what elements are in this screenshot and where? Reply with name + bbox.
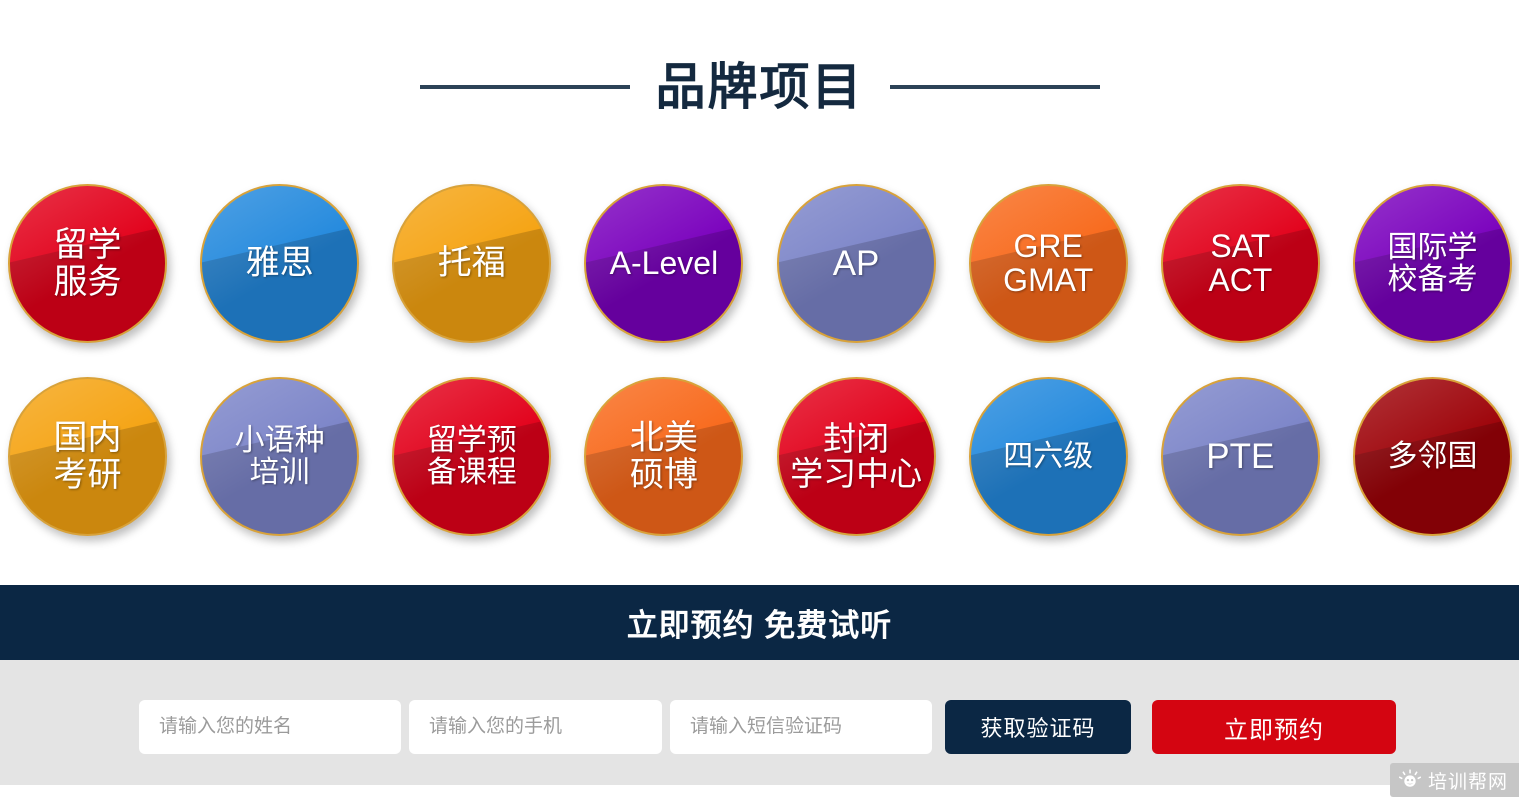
program-bubble-label: 四六级 bbox=[1003, 441, 1093, 473]
program-bubble-label: 北美 硕博 bbox=[630, 420, 698, 492]
program-bubble-international-school-prep[interactable]: 国际学 校备考 bbox=[1353, 184, 1512, 343]
program-bubble-label: 托福 bbox=[438, 245, 506, 281]
program-bubble-cet-4-6[interactable]: 四六级 bbox=[969, 377, 1128, 536]
phone-input[interactable] bbox=[409, 700, 662, 754]
program-bubble-toefl[interactable]: 托福 bbox=[392, 184, 551, 343]
submit-reservation-button[interactable]: 立即预约 bbox=[1152, 700, 1396, 754]
program-bubble-label: 小语种 培训 bbox=[235, 425, 325, 489]
program-bubble-domestic-postgrad-exam[interactable]: 国内 考研 bbox=[8, 377, 167, 536]
program-bubble-sat-act[interactable]: SAT ACT bbox=[1161, 184, 1320, 343]
program-bubble-north-america-master-phd[interactable]: 北美 硕博 bbox=[584, 377, 743, 536]
program-bubble-label: 多邻国 bbox=[1387, 441, 1477, 473]
program-bubble-label: 留学预 备课程 bbox=[427, 425, 517, 489]
reservation-form: 获取验证码 立即预约 bbox=[139, 700, 1396, 754]
program-bubble-duolingo[interactable]: 多邻国 bbox=[1353, 377, 1512, 536]
program-bubble-label: 国际学 校备考 bbox=[1387, 232, 1477, 296]
program-bubble-label: 雅思 bbox=[246, 245, 314, 281]
program-bubble-label: AP bbox=[833, 245, 880, 282]
program-bubble-closed-study-center[interactable]: 封闭 学习中心 bbox=[777, 377, 936, 536]
name-input[interactable] bbox=[139, 700, 401, 754]
program-bubble-minor-language-training[interactable]: 小语种 培训 bbox=[200, 377, 359, 536]
program-bubble-label: 留学 服务 bbox=[54, 227, 122, 299]
heading-rule-right bbox=[890, 85, 1100, 89]
watermark-text: 培训帮网 bbox=[1428, 767, 1508, 794]
reservation-form-strip: 获取验证码 立即预约 bbox=[0, 660, 1519, 785]
program-bubble-label: GRE GMAT bbox=[1003, 230, 1093, 298]
site-watermark: 培训帮网 bbox=[1390, 763, 1519, 797]
program-bubble-ap[interactable]: AP bbox=[777, 184, 936, 343]
program-row-1: 留学 服务雅思托福A-LevelAPGRE GMATSAT ACT国际学 校备考 bbox=[8, 184, 1512, 343]
section-heading: 品牌项目 bbox=[0, 62, 1519, 112]
program-bubble-label: SAT ACT bbox=[1208, 230, 1272, 298]
cta-banner-text: 立即预约 免费试听 bbox=[627, 600, 893, 645]
cta-banner: 立即预约 免费试听 bbox=[0, 585, 1519, 660]
heading-rule-left bbox=[420, 85, 630, 89]
program-bubble-ielts[interactable]: 雅思 bbox=[200, 184, 359, 343]
program-bubble-pte[interactable]: PTE bbox=[1161, 377, 1320, 536]
program-row-2: 国内 考研小语种 培训留学预 备课程北美 硕博封闭 学习中心四六级PTE多邻国 bbox=[8, 377, 1512, 536]
program-grid: 留学 服务雅思托福A-LevelAPGRE GMATSAT ACT国际学 校备考… bbox=[8, 184, 1512, 570]
program-bubble-label: A-Level bbox=[610, 247, 719, 281]
program-bubble-study-abroad-foundation-course[interactable]: 留学预 备课程 bbox=[392, 377, 551, 536]
program-bubble-study-abroad-service[interactable]: 留学 服务 bbox=[8, 184, 167, 343]
program-bubble-a-level[interactable]: A-Level bbox=[584, 184, 743, 343]
get-verification-code-button[interactable]: 获取验证码 bbox=[945, 700, 1131, 754]
page-root: 品牌项目 留学 服务雅思托福A-LevelAPGRE GMATSAT ACT国际… bbox=[0, 0, 1519, 804]
program-bubble-label: PTE bbox=[1206, 438, 1274, 475]
sun-face-icon bbox=[1399, 769, 1421, 791]
program-bubble-label: 国内 考研 bbox=[54, 420, 122, 492]
program-bubble-gre-gmat[interactable]: GRE GMAT bbox=[969, 184, 1128, 343]
program-bubble-label: 封闭 学习中心 bbox=[790, 422, 922, 492]
sms-code-input[interactable] bbox=[670, 700, 932, 754]
page-title: 品牌项目 bbox=[656, 62, 864, 112]
